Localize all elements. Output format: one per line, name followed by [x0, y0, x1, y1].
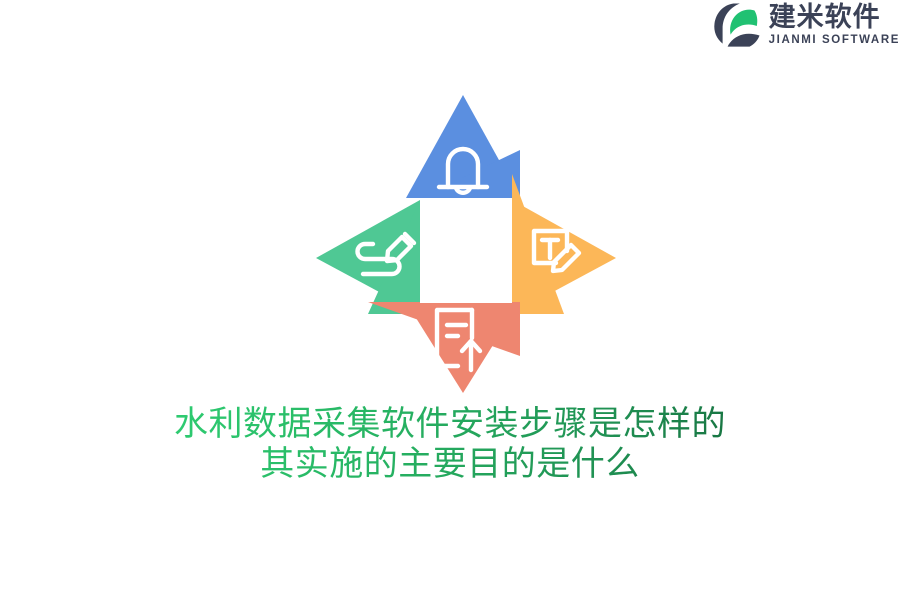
diamond-illustration	[306, 88, 626, 400]
page-title-line-1: 水利数据采集软件安装步骤是怎样的	[0, 404, 900, 444]
diamond-segment-top	[406, 95, 520, 198]
brand-text-block: 建米软件 JIANMI SOFTWARE	[769, 3, 900, 47]
diamond-graphic	[306, 88, 626, 400]
diamond-segment-bottom	[368, 302, 520, 393]
page-title: 水利数据采集软件安装步骤是怎样的 其实施的主要目的是什么	[0, 404, 900, 484]
diamond-segment-right	[512, 174, 616, 314]
brand-name-en: JIANMI SOFTWARE	[769, 35, 900, 47]
diamond-segment-left	[316, 200, 420, 314]
page-root: 建米软件 JIANMI SOFTWARE	[0, 0, 900, 600]
page-title-line-2: 其实施的主要目的是什么	[0, 444, 900, 484]
diamond-center-square	[420, 198, 512, 303]
brand-name-cn: 建米软件	[769, 3, 881, 31]
brand-logo[interactable]: 建米软件 JIANMI SOFTWARE	[713, 0, 900, 48]
jianmi-leaf-logo-icon	[713, 2, 761, 48]
